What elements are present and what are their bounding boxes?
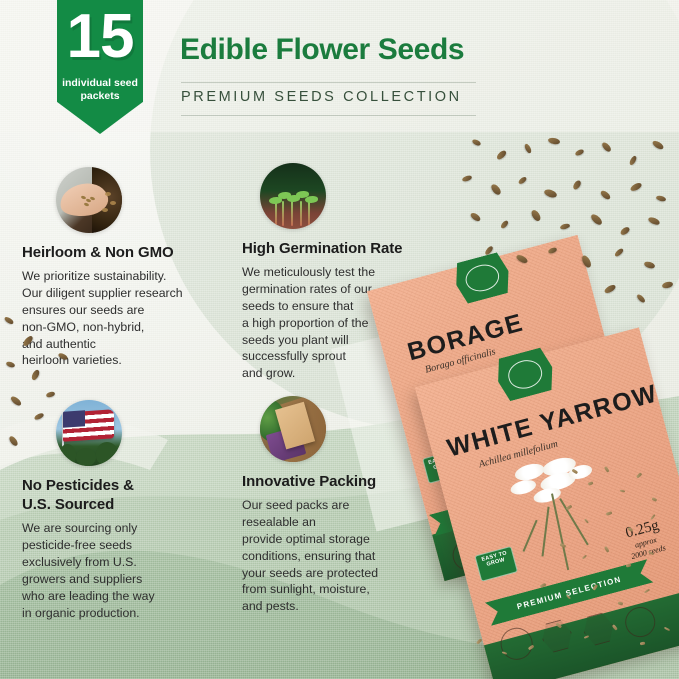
feature-heading: Heirloom & Non GMO	[14, 243, 220, 262]
page-title: Edible Flower Seeds	[180, 33, 464, 67]
page-subtitle: PREMIUM SEEDS COLLECTION	[181, 89, 462, 105]
badge-count: 15	[67, 6, 134, 68]
badge-caption: individual seed packets	[62, 77, 138, 103]
title-divider-bottom	[181, 115, 476, 116]
feature-body: Our seed packs are resealable an provide…	[234, 497, 440, 615]
feature-heading: Innovative Packing	[234, 472, 440, 491]
feature-heirloom-non-gmo: Heirloom & Non GMO We prioritize sustain…	[14, 167, 220, 369]
title-divider-top	[181, 82, 476, 83]
hand-with-seeds-icon	[56, 167, 122, 233]
infographic-canvas: 15 individual seed packets Edible Flower…	[0, 0, 679, 679]
feature-heading: No Pesticides & U.S. Sourced	[14, 476, 220, 514]
feature-body: We are sourcing only pesticide-free seed…	[14, 520, 220, 621]
seed-packets-icon	[260, 396, 326, 462]
feature-heading: High Germination Rate	[234, 239, 440, 258]
us-flag-icon	[56, 400, 122, 466]
sprouting-seedlings-icon	[260, 163, 326, 229]
feature-no-pesticides-us-sourced: No Pesticides & U.S. Sourced We are sour…	[14, 400, 220, 621]
feature-body: We prioritize sustainability. Our dilige…	[14, 268, 220, 369]
